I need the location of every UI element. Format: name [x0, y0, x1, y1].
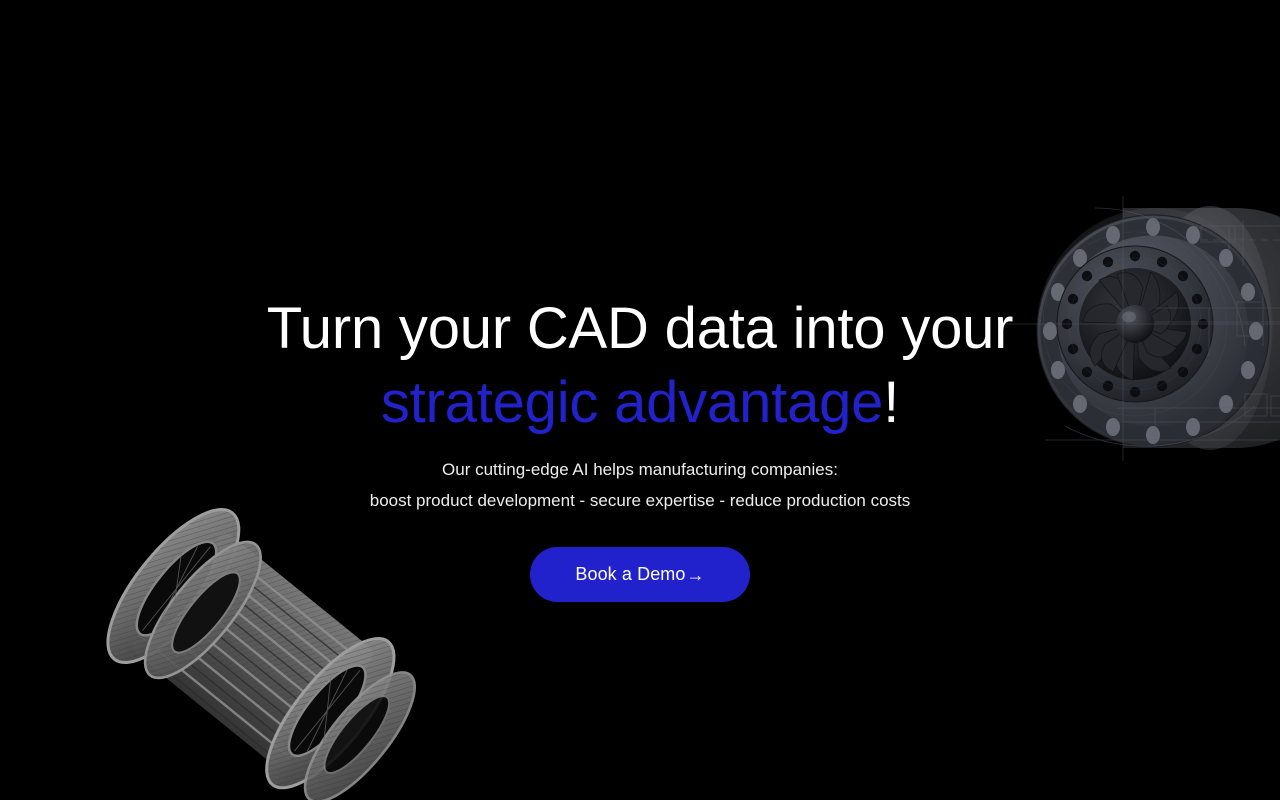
- headline-line-1: Turn your CAD data into your: [267, 296, 1014, 361]
- hero-subtitle: Our cutting-edge AI helps manufacturing …: [0, 454, 1280, 516]
- arrow-right-icon: →: [687, 566, 705, 584]
- subtitle-line-1: Our cutting-edge AI helps manufacturing …: [0, 454, 1280, 485]
- headline-exclamation: !: [883, 370, 899, 435]
- page-title: Turn your CAD data into your strategic a…: [0, 292, 1280, 440]
- hero-section: Turn your CAD data into your strategic a…: [0, 0, 1280, 800]
- cta-label: Book a Demo: [575, 564, 685, 585]
- headline-accent: strategic advantage: [381, 370, 883, 435]
- cta-container: Book a Demo→: [0, 547, 1280, 602]
- subtitle-line-2: boost product development - secure exper…: [0, 485, 1280, 516]
- book-a-demo-button[interactable]: Book a Demo→: [530, 547, 750, 602]
- hero-content: Turn your CAD data into your strategic a…: [0, 0, 1280, 800]
